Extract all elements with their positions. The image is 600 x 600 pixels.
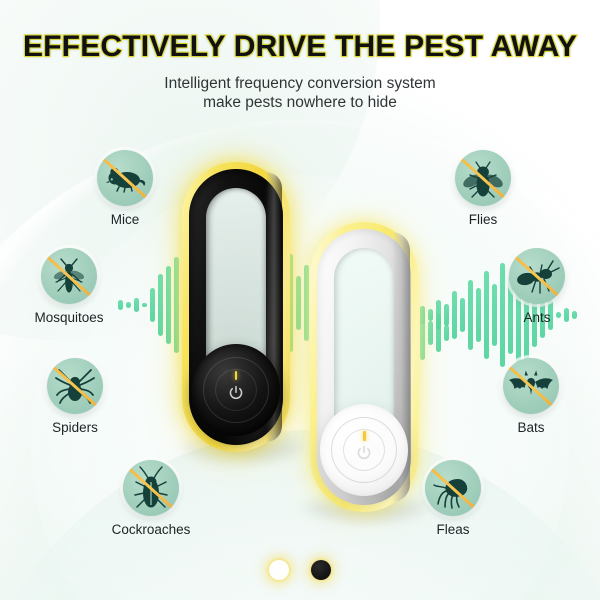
wave-bar — [158, 274, 163, 336]
black-device[interactable] — [182, 162, 290, 452]
wave-bar — [142, 303, 147, 307]
pest-label: Mice — [70, 212, 180, 227]
wave-bar — [428, 309, 433, 321]
black-device-power-pod[interactable] — [192, 344, 280, 436]
subtitle: Intelligent frequency conversion system … — [0, 74, 600, 112]
wave-bar — [134, 298, 139, 312]
swatch-white[interactable] — [269, 560, 289, 580]
subtitle-line-1: Intelligent frequency conversion system — [0, 74, 600, 93]
power-icon — [355, 444, 373, 462]
pest-label: Flies — [428, 212, 538, 227]
color-swatch-group — [0, 560, 600, 580]
wave-bar — [476, 288, 481, 342]
power-icon — [227, 384, 245, 402]
pest-badge-mice[interactable]: Mice — [70, 150, 180, 227]
pest-badge-cockroaches[interactable]: Cockroaches — [96, 460, 206, 537]
pest-label: Spiders — [20, 420, 130, 435]
led-indicator — [235, 371, 237, 380]
pest-badge-fleas[interactable]: Fleas — [398, 460, 508, 537]
product-banner: EFFECTIVELY DRIVE THE PEST AWAY Intellig… — [0, 0, 600, 600]
led-indicator — [363, 431, 366, 441]
subtitle-line-2: make pests nowhere to hide — [0, 93, 600, 112]
badge-disc — [455, 150, 511, 206]
pest-label: Cockroaches — [96, 522, 206, 537]
pest-badge-spiders[interactable]: Spiders — [20, 358, 130, 435]
wave-bar — [166, 266, 171, 344]
pest-badge-mosquitoes[interactable]: Mosquitoes — [14, 248, 124, 325]
wave-bar — [436, 300, 441, 330]
pest-badge-bats[interactable]: Bats — [476, 358, 586, 435]
wave-bar — [452, 291, 457, 339]
wave-bar — [460, 298, 465, 332]
pest-label: Mosquitoes — [14, 310, 124, 325]
pest-badge-flies[interactable]: Flies — [428, 150, 538, 227]
pest-label: Fleas — [398, 522, 508, 537]
badge-disc — [503, 358, 559, 414]
header: EFFECTIVELY DRIVE THE PEST AWAY Intellig… — [0, 0, 600, 112]
badge-disc — [425, 460, 481, 516]
wave-bar — [126, 302, 131, 308]
wave-bar — [468, 280, 473, 350]
pest-badge-ants[interactable]: Ants — [482, 248, 592, 325]
badge-disc — [509, 248, 565, 304]
badge-disc — [97, 150, 153, 206]
wave-bar — [444, 304, 449, 326]
pest-label: Bats — [476, 420, 586, 435]
swatch-black[interactable] — [311, 560, 331, 580]
badge-disc — [47, 358, 103, 414]
wave-bar — [150, 288, 155, 322]
badge-disc — [123, 460, 179, 516]
badge-disc — [41, 248, 97, 304]
page-title: EFFECTIVELY DRIVE THE PEST AWAY — [0, 0, 600, 64]
white-device-power-pod[interactable] — [320, 404, 408, 496]
pest-label: Ants — [482, 310, 592, 325]
